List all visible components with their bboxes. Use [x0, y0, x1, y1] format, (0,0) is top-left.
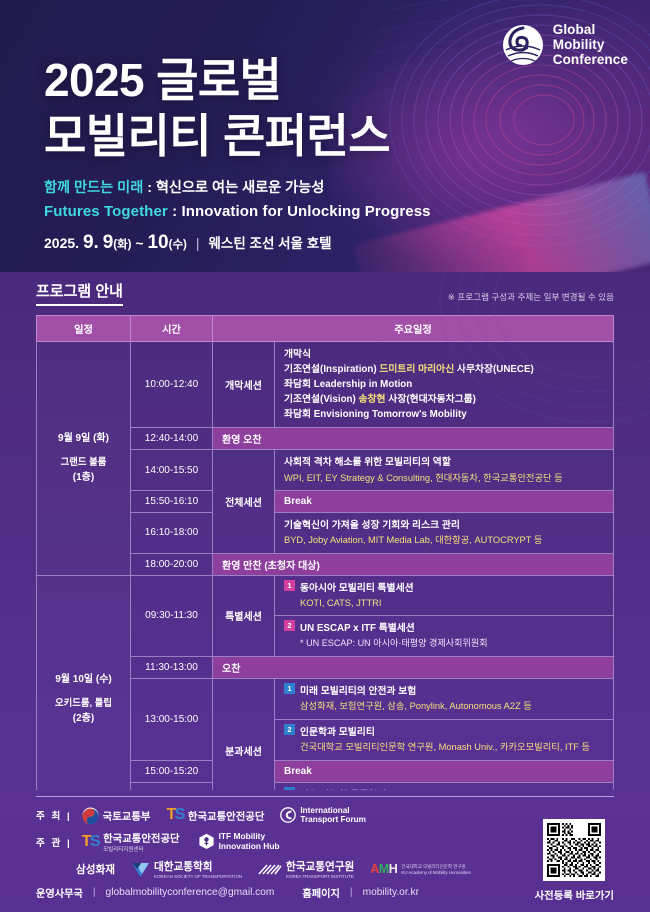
sponsor-kst: 대한교통학회 KOREAN SOCIETY OF TRANSPORTATION — [131, 859, 242, 879]
bottom-white-strip — [0, 912, 650, 918]
d1-r2-time: 12:40-14:00 — [131, 428, 213, 450]
homepage-label: 홈페이지 — [302, 885, 340, 900]
d2-r3b-block: 2 인문학과 모빌리티 건국대학교 모빌리티인문학 연구원, Monash Un… — [284, 725, 604, 755]
date-day1: 9 — [103, 232, 114, 254]
organizer-ts-sub: 모빌리티지원센터 — [103, 845, 179, 853]
amh-logo-icon: AMH — [370, 862, 397, 876]
sponsor-koti: 한국교통연구원 KOREA TRANSPORT INSTITUTE — [258, 859, 354, 879]
brand-line-2: Mobility — [553, 37, 628, 52]
poster-title: 2025 글로벌 모빌리티 콘퍼런스 — [44, 52, 390, 164]
d2-special-session-label: 특별세션 — [213, 575, 275, 657]
day1-label: 9월 9일 (화) — [39, 431, 128, 447]
day1-room-line1: 그랜드 볼룸 — [39, 455, 128, 470]
d1-r3-lead: 사회적 격차 해소를 위한 모빌리티의 역할 — [284, 455, 604, 470]
d2-r3b-text: 인문학과 모빌리티 건국대학교 모빌리티인문학 연구원, Monash Univ… — [300, 725, 604, 755]
poster-footer: 주 최 | 국토교통부 TS 한국교통안전공단 Interna — [0, 790, 650, 918]
date-day1-dow: (화) — [113, 236, 131, 252]
tagline-ko-accent: 함께 만드는 미래 — [44, 180, 143, 196]
table-row: 9월 9일 (화) 그랜드 볼룸 (1층) 10:00-12:40 개막세션 개… — [37, 341, 614, 428]
host-row: 주 최 | 국토교통부 TS 한국교통안전공단 Interna — [36, 806, 614, 824]
d2-r1a-orgs: KOTI, CATS, JTTRI — [300, 598, 381, 608]
sponsor-koti-main: 한국교통연구원 — [286, 861, 354, 873]
brand-text: Global Mobility Conference — [553, 22, 628, 67]
date-day2: 10 — [147, 232, 168, 254]
d2-r3a-text: 미래 모빌리티의 안전과 보험 삼성화재, 보험연구원, 삼송, Ponylin… — [300, 684, 604, 714]
tagline-english: Futures Together : Innovation for Unlock… — [44, 200, 431, 223]
sponsor-samsung-fire-name: 삼성화재 — [76, 862, 115, 877]
d2-r3b-detail: 2 인문학과 모빌리티 건국대학교 모빌리티인문학 연구원, Monash Un… — [275, 719, 614, 760]
sponsor-kst-sub: KOREAN SOCIETY OF TRANSPORTATION — [154, 874, 242, 879]
brand-line-3: Conference — [553, 52, 628, 67]
d1-r5-time: 16:10-18:00 — [131, 512, 213, 553]
d1-r2-label: 환영 오찬 — [213, 428, 614, 450]
sponsor-amh: AMH 건국대학교 모빌리티인문학 연구원 KU Academy of Mobi… — [370, 862, 470, 876]
host-ts: TS 한국교통안전공단 — [166, 806, 264, 824]
d1-r1-item-1: 개막식 — [284, 347, 604, 362]
contact-pipe-2: | — [350, 887, 353, 898]
d1-r1-session: 개막세션 — [213, 341, 275, 428]
molit-taegeuk-icon — [82, 807, 99, 824]
d1-r1-item-2: 기조연설(Inspiration) 드미트리 마리아신 사무차장(UNECE) — [284, 362, 604, 377]
d1-r1-item2-post: 사무차장(UNECE) — [454, 364, 534, 375]
footer-divider — [36, 796, 614, 797]
d2-r4-time: 15:00-15:20 — [131, 760, 213, 782]
d1-r1-time: 10:00-12:40 — [131, 341, 213, 428]
sponsor-kst-name: 대한교통학회 KOREAN SOCIETY OF TRANSPORTATION — [154, 859, 242, 879]
organizer-ts-main: 한국교통안전공단 — [103, 834, 179, 845]
d1-r1-item-3: 좌담회 Leadership in Motion — [284, 377, 604, 392]
d2-r1b-lead: UN ESCAP x ITF 특별세션 — [300, 623, 415, 634]
host-label: 주 최 | — [36, 808, 72, 822]
d1-r6-label: 환영 만찬 (초청자 대상) — [213, 553, 614, 575]
day2-label: 9월 10일 (수) — [39, 672, 128, 688]
program-heading: 프로그램 안내 — [36, 282, 123, 306]
session-number-badge: 1 — [284, 580, 295, 591]
host-molit: 국토교통부 — [82, 807, 151, 824]
tagline-korean: 함께 만드는 미래 : 혁신으로 여는 새로운 가능성 — [44, 178, 431, 199]
d2-r3-time: 13:00-15:00 — [131, 679, 213, 761]
table-header-row: 일정 시간 주요일정 — [37, 315, 614, 341]
d2-r1a-text: 동아시아 모빌리티 특별세션 KOTI, CATS, JTTRI — [300, 581, 604, 611]
venue-name: 웨스틴 조선 서울 호텔 — [209, 232, 332, 252]
sponsor-row: 삼성화재 대한교통학회 KOREAN SOCIETY OF TRANSPORTA… — [36, 859, 614, 879]
table-row: 9월 10일 (수) 오키드룸, 튤립 (2층) 09:30-11:30 특별세… — [37, 575, 614, 616]
col-header-date: 일정 — [37, 315, 131, 341]
d1-r4-break-label: Break — [275, 490, 614, 512]
date-venue-bar: 2025. 9. 9(화) ~ 10(수) | 웨스틴 조선 서울 호텔 — [44, 232, 332, 254]
globe-swirl-icon — [502, 24, 544, 66]
d2-r1b-detail: 2 UN ESCAP x ITF 특별세션 * UN ESCAP: UN 아시아… — [275, 616, 614, 657]
sponsor-samsung-fire: 삼성화재 — [76, 862, 115, 877]
d2-r1b-text: UN ESCAP x ITF 특별세션 * UN ESCAP: UN 아시아·태… — [300, 621, 604, 651]
qr-code-svg — [547, 823, 601, 877]
organizer-label: 주 관 | — [36, 835, 72, 849]
homepage-url[interactable]: mobility.or.kr — [363, 887, 419, 898]
d1-r4-time: 15:50-16:10 — [131, 490, 213, 512]
sponsor-koti-sub: KOREA TRANSPORT INSTITUTE — [286, 874, 354, 879]
organizer-itf-hub-line2: Innovation Hub — [219, 841, 280, 851]
organizer-ts-name: 한국교통안전공단 모빌리티지원센터 — [103, 830, 179, 853]
program-header: 프로그램 안내 ※ 프로그램 구성과 주제는 일부 변경될 수 있음 — [36, 272, 614, 306]
host-itf: International Transport Forum — [280, 806, 366, 824]
day1-room-line2: (1층) — [73, 472, 94, 483]
contact-pipe-1: | — [93, 887, 96, 898]
d1-r5-orgs: BYD, Joby Aviation, MIT Media Lab, 대한항공,… — [284, 533, 604, 547]
host-itf-line1: International — [300, 806, 349, 815]
qr-code-icon[interactable] — [543, 819, 605, 881]
d2-r1b-block: 2 UN ESCAP x ITF 특별세션 * UN ESCAP: UN 아시아… — [284, 621, 604, 651]
session-number-badge: 1 — [284, 683, 295, 694]
host-ts-name: 한국교통안전공단 — [188, 808, 264, 823]
d2-r3a-orgs: 삼성화재, 보험연구원, 삼송, Ponylink, Autonomous A2… — [300, 701, 532, 711]
d2-r2-label: 오찬 — [213, 657, 614, 679]
tagline-en-rest: : Innovation for Unlocking Progress — [168, 203, 431, 220]
sponsor-amh-sub2: KU Academy of Mobility Humanities — [401, 870, 470, 875]
d1-r3-detail: 사회적 격차 해소를 위한 모빌리티의 역할 WPI, EIT, EY Stra… — [275, 450, 614, 491]
session-number-badge: 2 — [284, 620, 295, 631]
d1-r1-item-5: 좌담회 Envisioning Tomorrow's Mobility — [284, 407, 604, 422]
ts-logo-icon: TS — [166, 806, 183, 824]
sponsor-koti-name: 한국교통연구원 KOREA TRANSPORT INSTITUTE — [286, 859, 354, 879]
host-itf-name: International Transport Forum — [300, 806, 366, 824]
qr-caption: 사전등록 바로가기 — [535, 887, 614, 902]
d1-r1-item-4: 기조연설(Vision) 송창현 사장(현대자동차그룹) — [284, 392, 604, 407]
d2-r3a-detail: 1 미래 모빌리티의 안전과 보험 삼성화재, 보험연구원, 삼송, Ponyl… — [275, 679, 614, 720]
organizer-ts: TS 한국교통안전공단 모빌리티지원센터 — [82, 830, 180, 853]
date-tilde: ~ — [135, 235, 143, 251]
brand-logo: Global Mobility Conference — [502, 22, 628, 67]
d1-r3-time: 14:00-15:50 — [131, 450, 213, 491]
col-header-agenda: 주요일정 — [213, 315, 614, 341]
day1-date-cell: 9월 9일 (화) 그랜드 볼룸 (1층) — [37, 341, 131, 575]
date-venue-separator: | — [196, 235, 200, 251]
office-email[interactable]: globalmobilityconference@gmail.com — [106, 887, 275, 898]
session-number-badge: 2 — [284, 724, 295, 735]
sponsor-amh-name: 건국대학교 모빌리티인문학 연구원 KU Academy of Mobility… — [401, 864, 470, 875]
d2-r1a-detail: 1 동아시아 모빌리티 특별세션 KOTI, CATS, JTTRI — [275, 575, 614, 616]
d2-r1b-sub: * UN ESCAP: UN 아시아·태평양 경제사회위원회 — [300, 638, 488, 648]
sponsor-kst-main: 대한교통학회 — [154, 861, 212, 873]
ts-logo-icon: TS — [82, 833, 99, 851]
date-month: 9. — [83, 232, 99, 254]
host-molit-name: 국토교통부 — [103, 808, 151, 823]
d1-r5-detail: 기술혁신이 가져올 성장 기회와 리스크 관리 BYD, Joby Aviati… — [275, 512, 614, 553]
d2-r3b-lead: 인문학과 모빌리티 — [300, 727, 375, 738]
day2-date-cell: 9월 10일 (수) 오키드룸, 튤립 (2층) — [37, 575, 131, 823]
d2-r1-time: 09:30-11:30 — [131, 575, 213, 657]
organizer-itf-hub-name: ITF Mobility Innovation Hub — [219, 832, 280, 851]
program-note: ※ 프로그램 구성과 주제는 일부 변경될 수 있음 — [448, 291, 614, 306]
day2-room-line2: (2층) — [73, 713, 94, 724]
organizer-row: 주 관 | TS 한국교통안전공단 모빌리티지원센터 ITF Mobility … — [36, 830, 614, 853]
d1-r3-orgs: WPI, EIT, EY Strategy & Consulting, 현대자동… — [284, 471, 604, 485]
d2-r3a-block: 1 미래 모빌리티의 안전과 보험 삼성화재, 보험연구원, 삼송, Ponyl… — [284, 684, 604, 714]
d1-r1-detail: 개막식 기조연설(Inspiration) 드미트리 마리아신 사무차장(UNE… — [275, 341, 614, 428]
d2-r1a-lead: 동아시아 모빌리티 특별세션 — [300, 583, 414, 594]
organizer-itf-hub-line1: ITF Mobility — [219, 831, 266, 841]
d1-r1-item4-speaker: 송창현 — [359, 394, 386, 405]
d1-r5-lead: 기술혁신이 가져올 성장 기회와 리스크 관리 — [284, 518, 604, 533]
d1-r1-item2-pre: 기조연설(Inspiration) — [284, 364, 379, 375]
d1-r1-item4-pre: 기조연설(Vision) — [284, 394, 359, 405]
organizer-itf-hub: ITF Mobility Innovation Hub — [198, 832, 280, 851]
d2-r4-break-label: Break — [275, 760, 614, 782]
itf-logo-icon — [280, 807, 296, 823]
host-itf-line2: Transport Forum — [300, 815, 366, 824]
d1-plenary-session-label: 전체세션 — [213, 450, 275, 553]
d1-r1-item2-speaker: 드미트리 마리아신 — [379, 364, 454, 375]
contact-row: 운영사무국 | globalmobilityconference@gmail.c… — [36, 885, 614, 900]
d2-r2-time: 11:30-13:00 — [131, 657, 213, 679]
date-prefix: 2025. — [44, 235, 79, 251]
poster-hero: Global Mobility Conference 2025 글로벌 모빌리티… — [0, 0, 650, 272]
d1-r6-time: 18:00-20:00 — [131, 553, 213, 575]
brand-line-1: Global — [553, 22, 628, 37]
koti-stripes-icon — [258, 862, 282, 876]
tagline-en-accent: Futures Together — [44, 203, 168, 220]
d2-r3b-orgs: 건국대학교 모빌리티인문학 연구원, Monash Univ., 카카오모빌리티… — [300, 742, 590, 752]
sponsor-amh-sub1: 건국대학교 모빌리티인문학 연구원 — [401, 864, 470, 870]
qr-registration-block[interactable]: 사전등록 바로가기 — [535, 819, 614, 902]
date-day2-dow: (수) — [169, 236, 187, 252]
title-line-2: 모빌리티 콘퍼런스 — [44, 108, 390, 164]
d2-r1a-block: 1 동아시아 모빌리티 특별세션 KOTI, CATS, JTTRI — [284, 581, 604, 611]
kst-triangle-icon — [131, 861, 150, 878]
d1-r1-item4-post: 사장(현대자동차그룹) — [386, 394, 476, 405]
d2-r3a-lead: 미래 모빌리티의 안전과 보험 — [300, 686, 416, 697]
conference-poster: Global Mobility Conference 2025 글로벌 모빌리티… — [0, 0, 650, 918]
office-label: 운영사무국 — [36, 885, 83, 900]
itf-hub-icon — [198, 833, 215, 850]
day2-room-line1: 오키드룸, 튤립 — [39, 696, 128, 711]
title-line-1: 2025 글로벌 — [44, 52, 390, 108]
col-header-time: 시간 — [131, 315, 213, 341]
poster-tagline: 함께 만드는 미래 : 혁신으로 여는 새로운 가능성 Futures Toge… — [44, 178, 431, 224]
tagline-ko-rest: : 혁신으로 여는 새로운 가능성 — [143, 180, 324, 196]
